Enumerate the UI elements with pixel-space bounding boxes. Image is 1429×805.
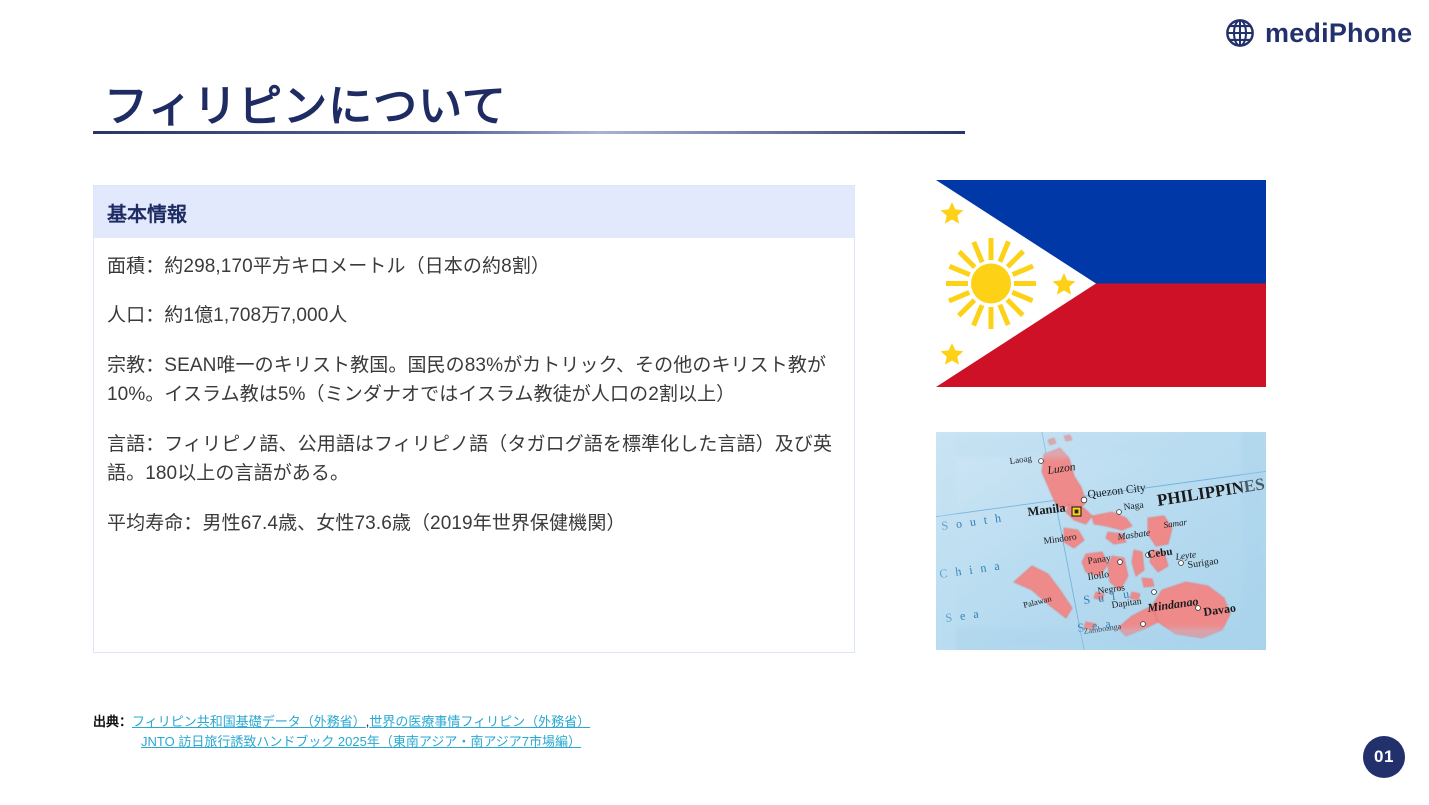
page-number-badge: 01 bbox=[1363, 736, 1405, 778]
basic-info-card-body: 面積：約298,170平方キロメートル（日本の約8割） 人口：約1億1,708万… bbox=[94, 238, 854, 538]
info-row-life-expectancy: 平均寿命：男性67.4歳、女性73.6歳（2019年世界保健機関） bbox=[107, 509, 841, 538]
basic-info-card: 基本情報 面積：約298,170平方キロメートル（日本の約8割） 人口：約1億1… bbox=[93, 185, 855, 653]
info-row-population: 人口：約1億1,708万7,000人 bbox=[107, 301, 841, 330]
philippines-map-image: PHILIPPINES Manila Quezon City Luzon Lao… bbox=[936, 432, 1266, 650]
footer-link-mofa-basic-data[interactable]: フィリピン共和国基礎データ（外務省） bbox=[132, 714, 366, 729]
page-title: フィリピンについて bbox=[104, 70, 507, 134]
basic-info-card-header: 基本情報 bbox=[94, 186, 854, 238]
basic-info-card-title: 基本情報 bbox=[107, 198, 187, 227]
brand-name: mediPhone bbox=[1265, 20, 1412, 47]
philippines-flag-image bbox=[936, 180, 1266, 387]
brand-logo: mediPhone bbox=[1225, 18, 1412, 48]
footer-label: 出典： bbox=[93, 714, 132, 729]
footer-line-2: JNTO 訪日旅行誘致ハンドブック 2025年（東南アジア・南アジア7市場編） bbox=[93, 732, 853, 752]
title-divider bbox=[93, 131, 965, 134]
footer-line-1: 出典：フィリピン共和国基礎データ（外務省）,世界の医療事情フィリピン（外務省） bbox=[93, 712, 853, 732]
footer-link-mofa-medical[interactable]: 世界の医療事情フィリピン（外務省） bbox=[369, 714, 590, 729]
info-row-language: 言語：フィリピノ語、公用語はフィリピノ語（タガログ語を標準化した言語）及び英語。… bbox=[107, 430, 841, 489]
info-row-area: 面積：約298,170平方キロメートル（日本の約8割） bbox=[107, 252, 841, 281]
info-row-religion: 宗教：SEAN唯一のキリスト教国。国民の83%がカトリック、その他のキリスト教が… bbox=[107, 351, 841, 410]
footer-link-jnto-handbook[interactable]: JNTO 訪日旅行誘致ハンドブック 2025年（東南アジア・南アジア7市場編） bbox=[141, 734, 581, 749]
globe-icon bbox=[1225, 18, 1255, 48]
footer-citation: 出典：フィリピン共和国基礎データ（外務省）,世界の医療事情フィリピン（外務省） … bbox=[93, 712, 853, 752]
